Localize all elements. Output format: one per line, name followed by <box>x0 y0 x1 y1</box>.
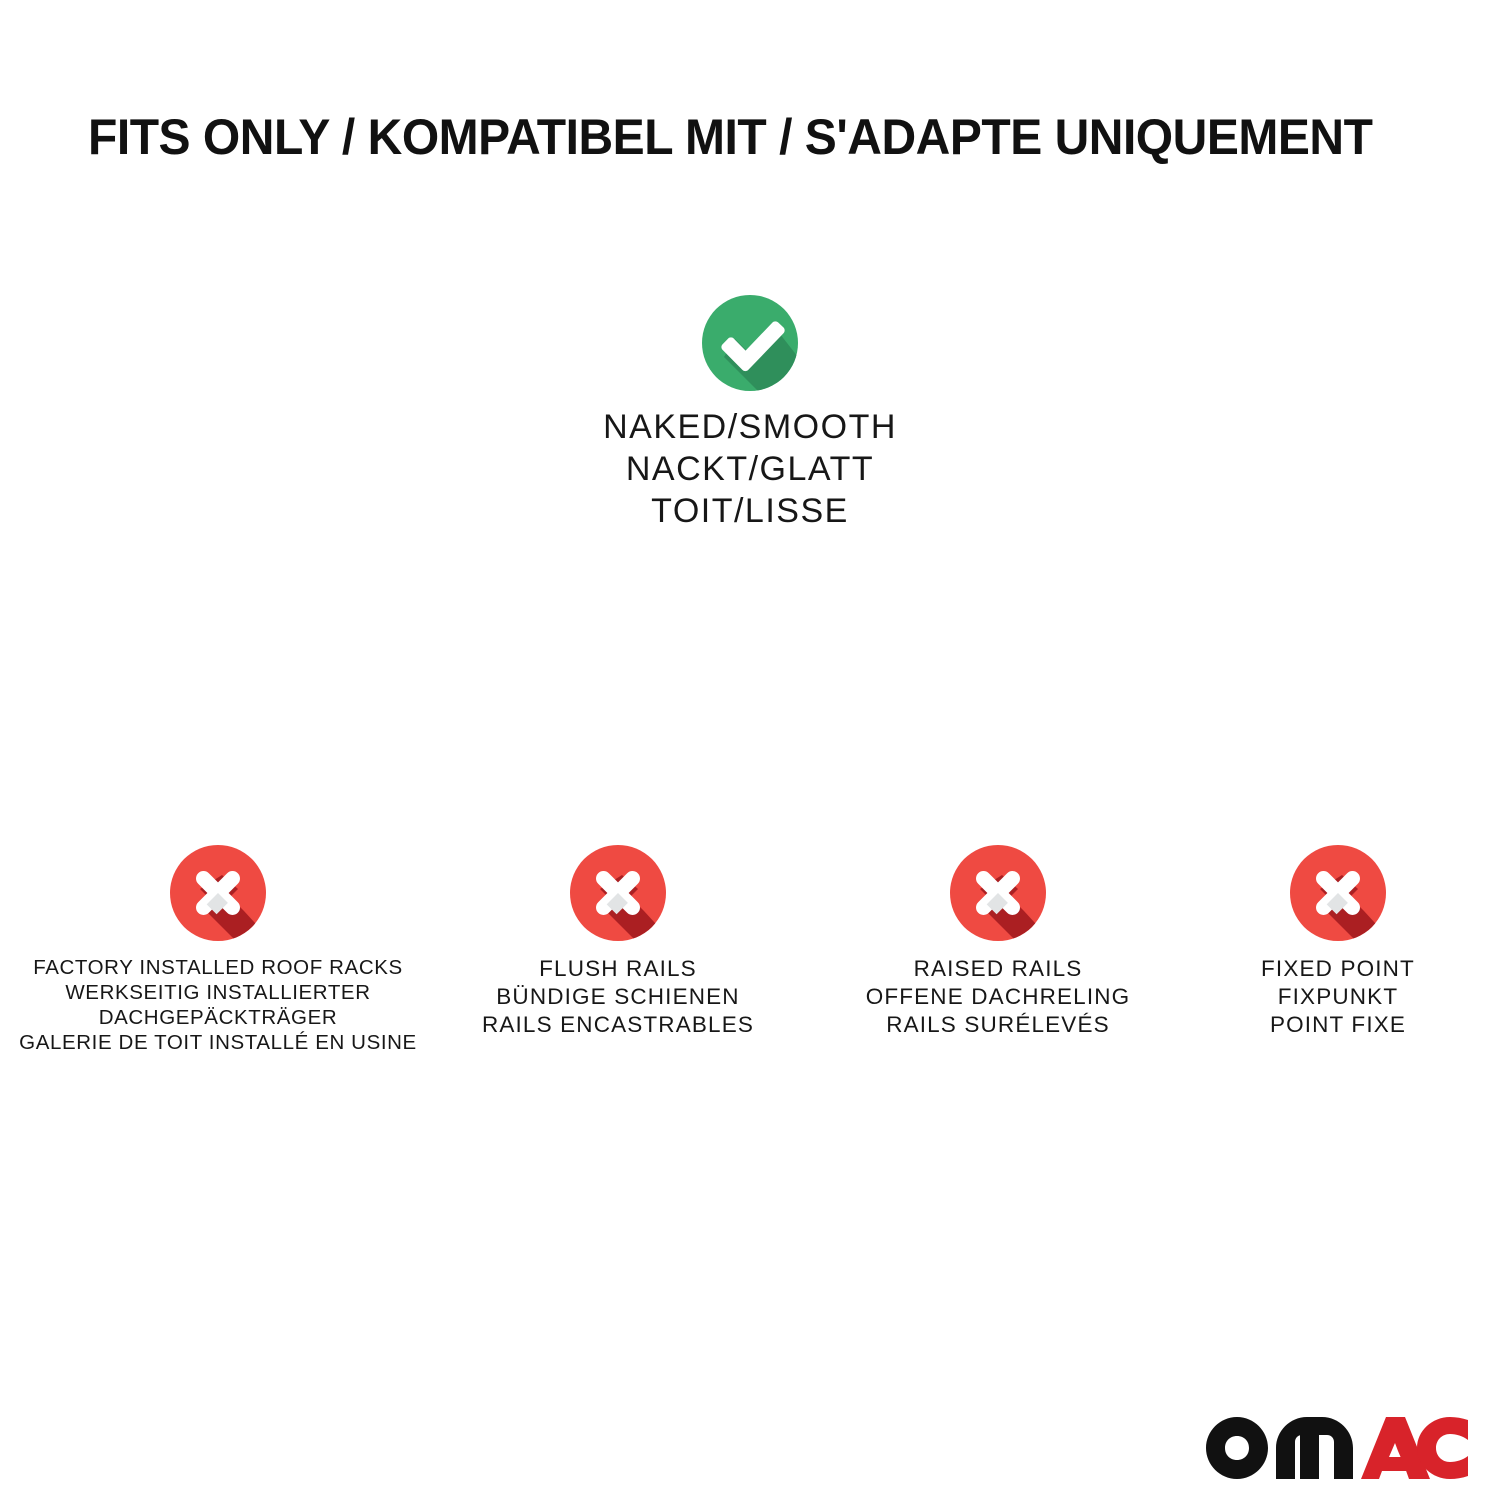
car-roof-raised-rails-illustration <box>808 1055 1188 1285</box>
incompatible-item-flush-rails: FLUSH RAILS BÜNDIGE SCHIENEN RAILS ENCAS… <box>428 845 808 1285</box>
x-circle-icon <box>950 845 1046 941</box>
car-roof-factory-racks-illustration <box>8 1071 428 1301</box>
car-roof-flush-rails-illustration <box>428 1055 808 1285</box>
logo-letter-m <box>1276 1417 1353 1479</box>
incompatible-caption: RAISED RAILS OFFENE DACHRELING RAILS SUR… <box>866 955 1131 1039</box>
caption-line: NAKED/SMOOTH <box>603 407 897 449</box>
x-circle-icon <box>570 845 666 941</box>
caption-line: DACHGEPÄCKTRÄGER <box>19 1005 417 1030</box>
compatibility-chart: FITS ONLY / KOMPATIBEL MIT / S'ADAPTE UN… <box>0 0 1500 1500</box>
compatible-caption: NAKED/SMOOTH NACKT/GLATT TOIT/LISSE <box>603 407 897 532</box>
caption-line: POINT FIXE <box>1261 1011 1415 1039</box>
x-mark-glyph <box>950 845 1046 941</box>
x-circle-icon <box>170 845 266 941</box>
caption-line: WERKSEITIG INSTALLIERTER <box>19 980 417 1005</box>
caption-line: TOIT/LISSE <box>603 491 897 533</box>
caption-line: FIXPUNKT <box>1261 983 1415 1011</box>
incompatible-item-raised-rails: RAISED RAILS OFFENE DACHRELING RAILS SUR… <box>808 845 1188 1285</box>
x-mark-glyph <box>570 845 666 941</box>
x-mark-glyph <box>1290 845 1386 941</box>
caption-line: RAILS SURÉLEVÉS <box>866 1011 1131 1039</box>
caption-line: FIXED POINT <box>1261 955 1415 983</box>
caption-line: GALERIE DE TOIT INSTALLÉ EN USINE <box>19 1030 417 1055</box>
caption-line: BÜNDIGE SCHIENEN <box>482 983 754 1011</box>
page-title: FITS ONLY / KOMPATIBEL MIT / S'ADAPTE UN… <box>88 108 1372 166</box>
check-circle-icon <box>702 295 798 391</box>
incompatible-caption: FLUSH RAILS BÜNDIGE SCHIENEN RAILS ENCAS… <box>482 955 754 1039</box>
incompatible-caption: FIXED POINT FIXPUNKT POINT FIXE <box>1261 955 1415 1039</box>
car-roof-naked-smooth-illustration <box>490 546 1010 796</box>
caption-line: NACKT/GLATT <box>603 449 897 491</box>
caption-line: RAISED RAILS <box>866 955 1131 983</box>
incompatible-section: FACTORY INSTALLED ROOF RACKS WERKSEITIG … <box>0 845 1500 1301</box>
caption-line: FLUSH RAILS <box>482 955 754 983</box>
omac-logo <box>1206 1418 1468 1478</box>
car-roof-fixed-point-illustration <box>1188 1055 1488 1285</box>
caption-line: RAILS ENCASTRABLES <box>482 1011 754 1039</box>
x-circle-icon <box>1290 845 1386 941</box>
incompatible-caption: FACTORY INSTALLED ROOF RACKS WERKSEITIG … <box>19 955 417 1055</box>
incompatible-item-fixed-point: FIXED POINT FIXPUNKT POINT FIXE <box>1188 845 1488 1285</box>
compatible-section: NAKED/SMOOTH NACKT/GLATT TOIT/LISSE <box>0 295 1500 796</box>
check-mark-glyph <box>702 295 798 391</box>
incompatible-item-factory-installed-roof-racks: FACTORY INSTALLED ROOF RACKS WERKSEITIG … <box>8 845 428 1301</box>
caption-line: OFFENE DACHRELING <box>866 983 1131 1011</box>
x-mark-glyph <box>170 845 266 941</box>
caption-line: FACTORY INSTALLED ROOF RACKS <box>19 955 417 980</box>
logo-letter-o <box>1206 1417 1268 1479</box>
